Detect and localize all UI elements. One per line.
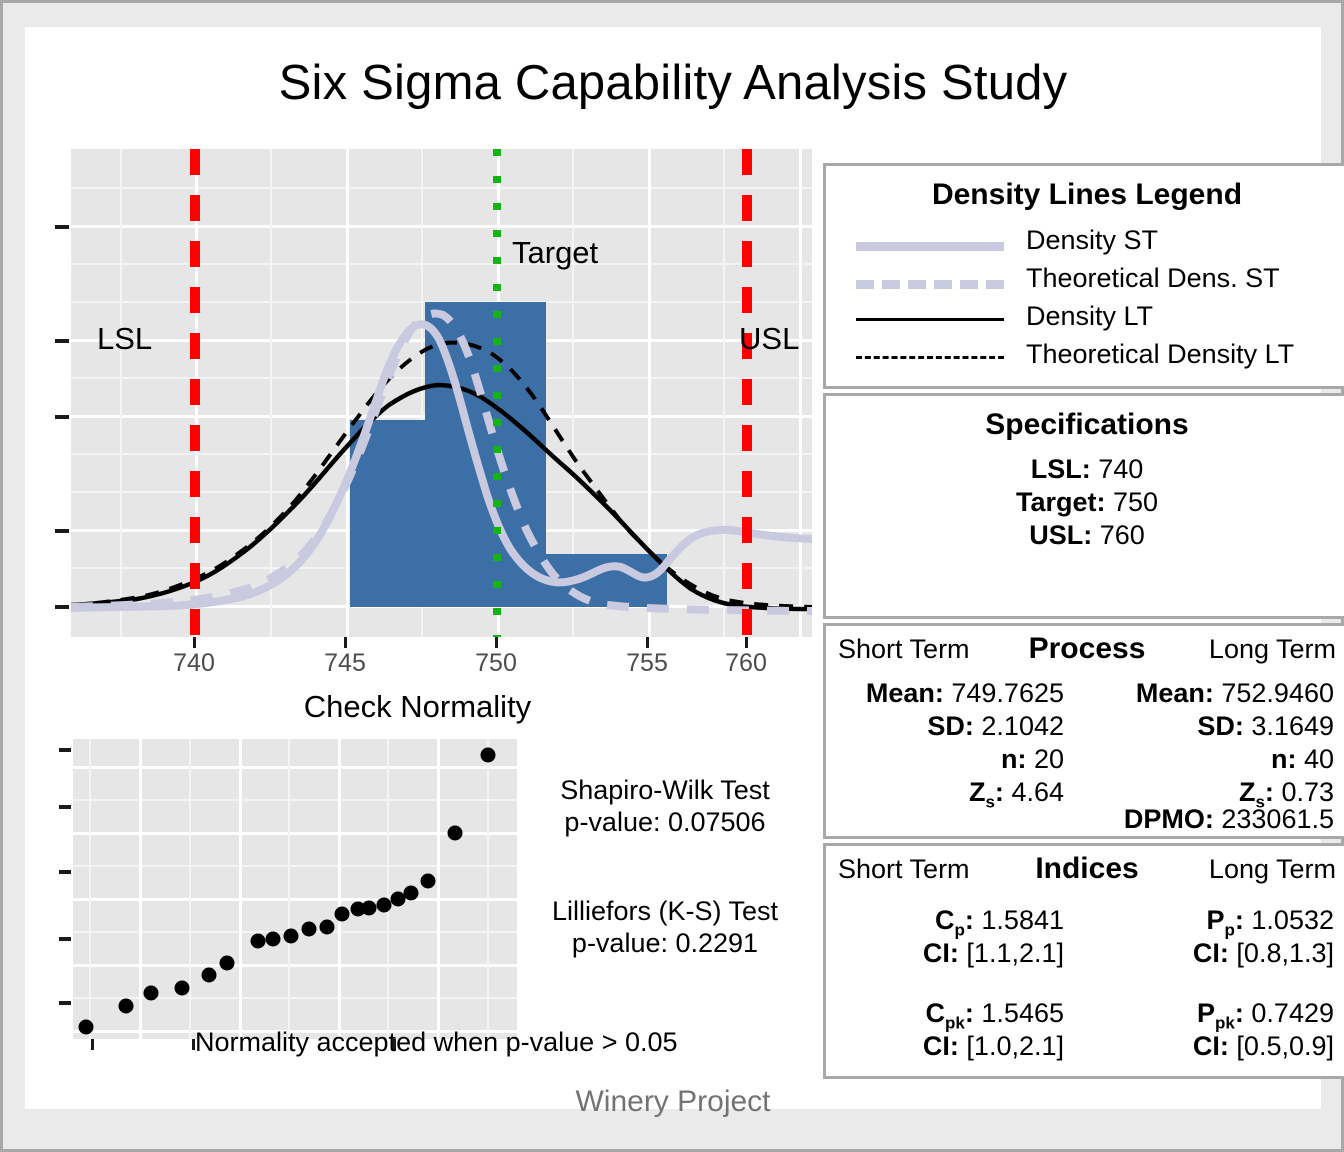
spec-target-row: Target: 750 bbox=[826, 487, 1344, 518]
legend-label: Theoretical Density LT bbox=[1026, 339, 1294, 370]
figure-root: Six Sigma Capability Analysis Study bbox=[0, 0, 1344, 1152]
value: 0.7429 bbox=[1251, 998, 1334, 1028]
value: 2.1042 bbox=[981, 711, 1064, 741]
qq-point bbox=[119, 999, 134, 1014]
qq-point bbox=[362, 901, 377, 916]
process-long-term-header: Long Term bbox=[1209, 634, 1336, 665]
indices-pp: Pp: 1.0532 bbox=[1084, 905, 1334, 940]
value: 20 bbox=[1034, 744, 1064, 774]
label: Mean: bbox=[866, 678, 944, 708]
value: 749.7625 bbox=[951, 678, 1064, 708]
project-footer: Winery Project bbox=[25, 1085, 1321, 1119]
specifications-box: Specifications LSL: 740 Target: 750 USL:… bbox=[823, 393, 1344, 619]
qq-point bbox=[202, 968, 217, 983]
legend-row: Density LT bbox=[826, 304, 1344, 338]
process-st-n: n: 20 bbox=[826, 744, 1064, 775]
y-axis-tick bbox=[55, 529, 69, 533]
qq-point bbox=[320, 920, 335, 935]
y-axis-tick bbox=[55, 605, 69, 609]
qq-point bbox=[302, 922, 317, 937]
process-lt-dpmo: DPMO: 233061.5 bbox=[1084, 804, 1334, 835]
shapiro-wilk-title: Shapiro-Wilk Test bbox=[525, 775, 805, 806]
process-lt-n: n: 40 bbox=[1084, 744, 1334, 775]
label: Ppk: bbox=[1197, 998, 1244, 1028]
specifications-title: Specifications bbox=[826, 408, 1344, 442]
label: CI: bbox=[923, 1031, 959, 1061]
value: 1.5465 bbox=[981, 998, 1064, 1028]
value: [0.5,0.9] bbox=[1236, 1031, 1334, 1061]
qq-y-tick bbox=[59, 937, 71, 941]
qq-point bbox=[266, 932, 281, 947]
y-axis-tick bbox=[55, 339, 69, 343]
value: 752.9460 bbox=[1221, 678, 1334, 708]
process-lt-mean: Mean: 752.9460 bbox=[1084, 678, 1334, 709]
value: [1.1,2.1] bbox=[966, 938, 1064, 968]
x-axis-tick-label: 745 bbox=[324, 649, 366, 678]
label: SD: bbox=[927, 711, 974, 741]
indices-ppk-ci: CI: [0.5,0.9] bbox=[1084, 1031, 1334, 1062]
spec-limit-lines bbox=[71, 149, 812, 637]
x-axis-title: Check Normality bbox=[47, 689, 788, 725]
x-axis-tick-label: 750 bbox=[475, 649, 517, 678]
process-lt-sd: SD: 3.1649 bbox=[1084, 711, 1334, 742]
qq-point bbox=[79, 1020, 94, 1035]
spec-target-label: Target: bbox=[1016, 487, 1106, 517]
qq-point bbox=[284, 929, 299, 944]
capability-histogram-plot: LSL Target USL bbox=[47, 149, 812, 637]
spec-usl-label: USL: bbox=[1029, 520, 1092, 550]
label: Cpk: bbox=[926, 998, 974, 1028]
label: Mean: bbox=[1136, 678, 1214, 708]
legend-label: Density ST bbox=[1026, 225, 1158, 256]
label: Zs: bbox=[969, 777, 1004, 807]
process-box: Short Term Process Long Term Mean: 749.7… bbox=[823, 623, 1344, 839]
qq-point bbox=[481, 748, 496, 763]
label: DPMO: bbox=[1124, 804, 1214, 834]
value: 3.1649 bbox=[1251, 711, 1334, 741]
value: 233061.5 bbox=[1221, 804, 1334, 834]
indices-cpk-ci: CI: [1.0,2.1] bbox=[826, 1031, 1064, 1062]
label: Zs: bbox=[1239, 777, 1274, 807]
spec-usl-row: USL: 760 bbox=[826, 520, 1344, 551]
value: 1.0532 bbox=[1251, 905, 1334, 935]
normality-qq-plot bbox=[47, 739, 517, 1059]
process-st-mean: Mean: 749.7625 bbox=[826, 678, 1064, 709]
theoretical-density-lt-swatch bbox=[856, 356, 1004, 359]
indices-cp: Cp: 1.5841 bbox=[826, 905, 1064, 940]
legend-row: Density ST bbox=[826, 228, 1344, 262]
qq-panel bbox=[73, 739, 517, 1039]
label: SD: bbox=[1197, 711, 1244, 741]
legend-row: Theoretical Density LT bbox=[826, 342, 1344, 376]
indices-ppk: Ppk: 0.7429 bbox=[1084, 998, 1334, 1033]
label: CI: bbox=[1193, 938, 1229, 968]
lsl-annotation: LSL bbox=[97, 321, 152, 357]
legend-label: Theoretical Dens. ST bbox=[1026, 263, 1280, 294]
label: CI: bbox=[1193, 1031, 1229, 1061]
qq-point bbox=[144, 986, 159, 1001]
x-axis: 740 745 750 755 760 bbox=[47, 637, 812, 683]
usl-annotation: USL bbox=[739, 321, 799, 357]
qq-y-tick bbox=[59, 805, 71, 809]
qq-x-tick bbox=[91, 1039, 94, 1050]
indices-pp-ci: CI: [0.8,1.3] bbox=[1084, 938, 1334, 969]
label: Pp: bbox=[1206, 905, 1243, 935]
label: n: bbox=[1271, 744, 1296, 774]
qq-point bbox=[175, 981, 190, 996]
qq-point bbox=[251, 934, 266, 949]
qq-point bbox=[335, 907, 350, 922]
process-st-zs: Zs: 4.64 bbox=[826, 777, 1064, 812]
spec-target-value: 750 bbox=[1113, 487, 1158, 517]
indices-cpk: Cpk: 1.5465 bbox=[826, 998, 1064, 1033]
value: 1.5841 bbox=[981, 905, 1064, 935]
lilliefors-title: Lilliefors (K-S) Test bbox=[520, 896, 810, 927]
density-legend-box: Density Lines Legend Density ST Theoreti… bbox=[823, 163, 1344, 389]
theoretical-density-st-swatch bbox=[856, 280, 1004, 289]
indices-box: Short Term Indices Long Term Cp: 1.5841 … bbox=[823, 843, 1344, 1079]
label: n: bbox=[1001, 744, 1026, 774]
label: Cp: bbox=[935, 905, 974, 935]
y-axis-tick bbox=[55, 415, 69, 419]
qq-y-tick bbox=[59, 1001, 71, 1005]
histogram-panel bbox=[71, 149, 812, 637]
normality-note: Normality accepted when p-value > 0.05 bbox=[195, 1027, 678, 1058]
shapiro-wilk-pvalue: p-value: 0.07506 bbox=[525, 807, 805, 838]
x-axis-tick-label: 755 bbox=[626, 649, 668, 678]
density-lt-swatch bbox=[856, 318, 1004, 321]
page-title: Six Sigma Capability Analysis Study bbox=[25, 55, 1321, 111]
qq-y-tick bbox=[59, 748, 71, 752]
x-axis-tick-label: 740 bbox=[173, 649, 215, 678]
value: 40 bbox=[1304, 744, 1334, 774]
indices-long-term-header: Long Term bbox=[1209, 854, 1336, 885]
legend-label: Density LT bbox=[1026, 301, 1153, 332]
density-st-swatch bbox=[856, 242, 1004, 251]
qq-point bbox=[404, 886, 419, 901]
value: 0.73 bbox=[1281, 777, 1334, 807]
qq-point bbox=[377, 898, 392, 913]
value: [1.0,2.1] bbox=[966, 1031, 1064, 1061]
lilliefors-pvalue: p-value: 0.2291 bbox=[520, 928, 810, 959]
spec-lsl-label: LSL: bbox=[1031, 454, 1091, 484]
label: CI: bbox=[923, 938, 959, 968]
qq-point bbox=[448, 826, 463, 841]
qq-y-tick bbox=[59, 870, 71, 874]
spec-lsl-value: 740 bbox=[1098, 454, 1143, 484]
qq-point bbox=[220, 956, 235, 971]
process-st-sd: SD: 2.1042 bbox=[826, 711, 1064, 742]
target-annotation: Target bbox=[512, 235, 598, 271]
legend-row: Theoretical Dens. ST bbox=[826, 266, 1344, 300]
legend-title: Density Lines Legend bbox=[826, 178, 1344, 212]
x-axis-tick-label: 760 bbox=[725, 649, 767, 678]
spec-lsl-row: LSL: 740 bbox=[826, 454, 1344, 485]
y-axis-tick bbox=[55, 225, 69, 229]
spec-usl-value: 760 bbox=[1100, 520, 1145, 550]
indices-cp-ci: CI: [1.1,2.1] bbox=[826, 938, 1064, 969]
value: 4.64 bbox=[1011, 777, 1064, 807]
qq-point bbox=[421, 874, 436, 889]
value: [0.8,1.3] bbox=[1236, 938, 1334, 968]
figure-canvas: Six Sigma Capability Analysis Study bbox=[25, 27, 1321, 1109]
